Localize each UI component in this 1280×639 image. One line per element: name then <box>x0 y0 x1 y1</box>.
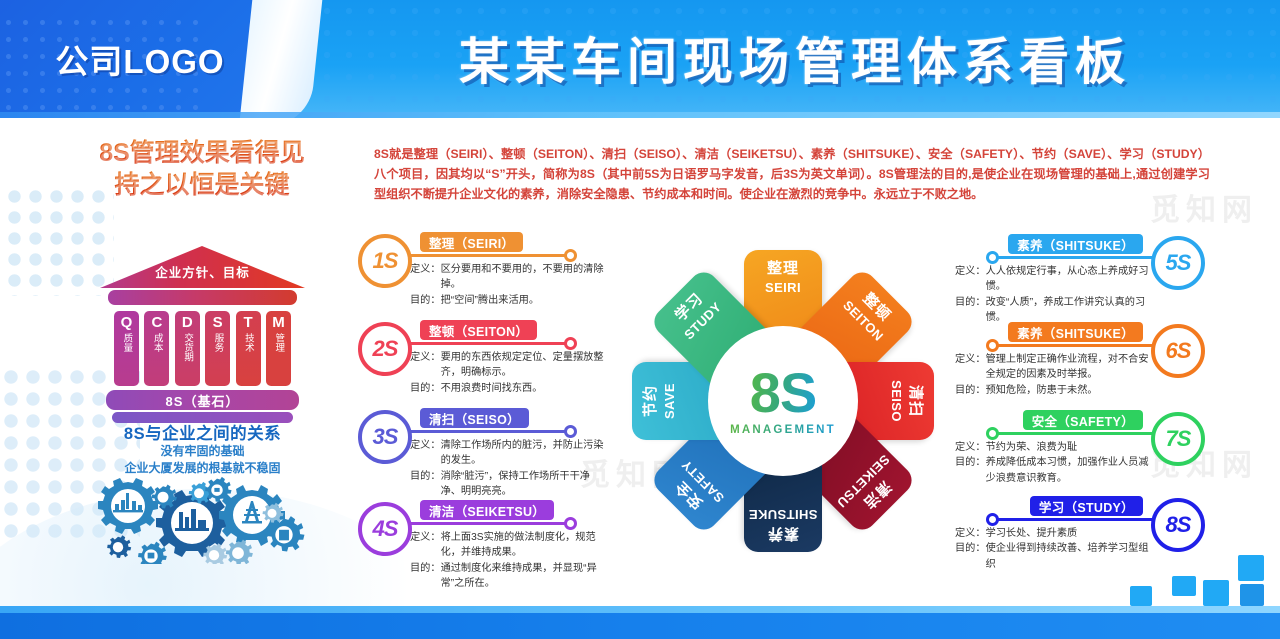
header-accent-line <box>0 112 1280 118</box>
s-card-2s[interactable]: 整顿（SEITON）2S定义：要用的东西依规定定位、定量摆放整齐，明确标示。目的… <box>358 320 608 404</box>
s-definition-key: 定义： <box>955 352 986 383</box>
pillar-label: 技术 <box>243 333 253 352</box>
s-title-chip: 清扫（SEISO） <box>420 408 529 428</box>
s-title-text: 清扫（SEISO） <box>429 409 520 428</box>
s-card-body: 定义：要用的东西依规定定位、定量摆放整齐，明确标示。目的：不用浪费时间找东西。 <box>410 350 604 396</box>
s-definition-key: 定义： <box>410 438 441 469</box>
s-definition-row: 定义：管理上制定正确作业流程，对不合安全规定的因素及时举报。 <box>955 352 1151 383</box>
footer-band <box>0 613 1280 639</box>
s-definition-value: 将上面3S实施的做法制度化，规范化，并维持成果。 <box>441 530 604 561</box>
s-badge-label: 6S <box>1166 338 1191 364</box>
s-badge-label: 3S <box>373 424 398 450</box>
temple-pillar-d: D交货期 <box>175 311 200 386</box>
s-definition-row: 定义：将上面3S实施的做法制度化，规范化，并维持成果。 <box>410 530 604 561</box>
gear-cluster-illustration <box>96 474 311 564</box>
page-title: 某某车间现场管理体系看板 <box>330 18 1260 98</box>
pillar-letter: T <box>243 315 252 330</box>
s-card-3s[interactable]: 清扫（SEISO）3S定义：清除工作场所内的脏污，并防止污染的发生。目的：消除“… <box>358 408 608 492</box>
left-headline-line1: 8S管理效果看得见 <box>62 138 342 170</box>
s-title-text: 安全（SAFETY） <box>1032 411 1134 430</box>
eight-s-flower-diagram: 整理SEIRI整顿SEITON清扫SEISO清洁SEIKETSU素养SHITSU… <box>618 236 948 566</box>
s-definition-key: 定义： <box>410 350 441 381</box>
connector-knob <box>986 427 999 440</box>
relation-subtitle: 没有牢固的基础 企业大厦发展的根基就不稳固 <box>60 443 345 478</box>
decor-pixel-3 <box>1240 584 1264 606</box>
pillar-letter: C <box>151 315 162 330</box>
s-purpose-key: 目的： <box>410 469 441 500</box>
s-card-5s[interactable]: 素养（SHITSUKE）5S定义：人人依规定行事，从心态上养成好习惯。目的：改变… <box>955 234 1205 318</box>
s-card-7s[interactable]: 安全（SAFETY）7S定义：节约为荣、浪费为耻目的：养成降低成本习惯，加强作业… <box>955 410 1205 494</box>
connector-knob <box>564 249 577 262</box>
s-card-body: 定义：节约为荣、浪费为耻目的：养成降低成本习惯，加强作业人员减少浪费意识教育。 <box>955 440 1151 486</box>
petal-label-en: SAVE <box>662 383 678 419</box>
connector-line <box>995 344 1163 347</box>
connector-line <box>995 518 1163 521</box>
s-title-chip: 学习（STUDY） <box>1030 496 1143 516</box>
s-purpose-row: 目的：使企业得到持续改善、培养学习型组织 <box>955 541 1151 572</box>
s-purpose-key: 目的： <box>955 455 986 486</box>
connector-line <box>400 254 568 257</box>
s-purpose-row: 目的：养成降低成本习惯，加强作业人员减少浪费意识教育。 <box>955 455 1151 486</box>
connector-line <box>400 430 568 433</box>
page-title-text: 某某车间现场管理体系看板 <box>459 22 1131 94</box>
petal-label-cn: 清扫 <box>907 385 924 417</box>
s-purpose-key: 目的： <box>410 381 441 396</box>
s-definition-key: 定义： <box>410 530 441 561</box>
connector-line <box>995 432 1163 435</box>
connector-knob <box>564 517 577 530</box>
header-divider-wedge <box>239 0 323 118</box>
pillar-letter: S <box>213 315 223 330</box>
s-definition-value: 要用的东西依规定定位、定量摆放整齐，明确标示。 <box>441 350 604 381</box>
petal-label-cn: 素养 <box>767 525 799 542</box>
s-purpose-value: 改变“人质”，养成工作讲究认真的习惯。 <box>986 295 1151 326</box>
s-title-chip: 素养（SHITSUKE） <box>1008 234 1143 254</box>
gear-icon-small-i <box>138 542 167 564</box>
s-title-text: 素养（SHITSUKE） <box>1017 235 1134 254</box>
left-headline: 8S管理效果看得见 持之以恒是关键 <box>62 138 342 201</box>
s-purpose-row: 目的：不用浪费时间找东西。 <box>410 381 604 396</box>
s-badge-7s: 7S <box>1151 412 1205 466</box>
s-badge-4s: 4S <box>358 502 412 556</box>
connector-knob <box>564 337 577 350</box>
s-purpose-row: 目的：通过制度化来维持成果，并显现“异常”之所在。 <box>410 561 604 592</box>
temple-pillars: Q质量C成本D交货期S服务T技术M管理 <box>114 311 291 386</box>
pillar-letter: M <box>272 315 285 330</box>
s-badge-label: 4S <box>373 516 398 542</box>
company-logo: 公司LOGO <box>32 30 248 88</box>
flower-center-subtitle: MANAGEMENT <box>730 424 836 436</box>
s-badge-label: 2S <box>373 336 398 362</box>
connector-knob <box>564 425 577 438</box>
flower-center-hub: 8S MANAGEMENT <box>708 326 858 476</box>
temple-pillar-c: C成本 <box>144 311 169 386</box>
s-purpose-key: 目的： <box>955 541 986 572</box>
s-definition-value: 学习长处、提升素质 <box>986 526 1078 541</box>
relation-title: 8S与企业之间的关系 <box>60 420 345 444</box>
s-badge-8s: 8S <box>1151 498 1205 552</box>
s-badge-label: 8S <box>1166 512 1191 538</box>
connector-line <box>400 522 568 525</box>
s-definition-row: 定义：要用的东西依规定定位、定量摆放整齐，明确标示。 <box>410 350 604 381</box>
s-definition-value: 区分要用和不要用的，不要用的清除掉。 <box>441 262 604 293</box>
s-badge-6s: 6S <box>1151 324 1205 378</box>
intro-paragraph: 8S就是整理（SEIRI）、整顿（SEITON）、清扫（SEISO）、清洁（SE… <box>374 144 1210 204</box>
s-purpose-key: 目的： <box>955 383 986 398</box>
s-badge-1s: 1S <box>358 234 412 288</box>
connector-line <box>995 256 1163 259</box>
left-headline-line2: 持之以恒是关键 <box>62 170 342 202</box>
s-badge-3s: 3S <box>358 410 412 464</box>
connector-knob <box>986 339 999 352</box>
s-title-chip: 素养（SHITSUKE） <box>1008 322 1143 342</box>
temple-roof-label: 企业方针、目标 <box>100 262 305 281</box>
s-card-8s[interactable]: 学习（STUDY）8S定义：学习长处、提升素质目的：使企业得到持续改善、培养学习… <box>955 496 1205 580</box>
s-definition-row: 定义：人人依规定行事，从心态上养成好习惯。 <box>955 264 1151 295</box>
s-purpose-row: 目的：消除“脏污”，保持工作场所干干净净、明明亮亮。 <box>410 469 604 500</box>
s-card-body: 定义：区分要用和不要用的，不要用的清除掉。目的：把“空间”腾出来活用。 <box>410 262 604 308</box>
s-definition-row: 定义：学习长处、提升素质 <box>955 526 1151 541</box>
s-purpose-key: 目的： <box>410 561 441 592</box>
decor-pixel-5 <box>1130 586 1152 606</box>
decor-pixel-1 <box>1238 555 1264 581</box>
temple-pillar-q: Q质量 <box>114 311 139 386</box>
s-definition-key: 定义： <box>955 526 986 541</box>
s-card-body: 定义：清除工作场所内的脏污，并防止污染的发生。目的：消除“脏污”，保持工作场所干… <box>410 438 604 499</box>
pillar-label: 服务 <box>213 333 223 352</box>
s-card-body: 定义：学习长处、提升素质目的：使企业得到持续改善、培养学习型组织 <box>955 526 1151 572</box>
pillar-letter: D <box>182 315 193 330</box>
pillar-label: 交货期 <box>182 333 192 362</box>
temple-diagram: 企业方针、目标 Q质量C成本D交货期S服务T技术M管理 8S（基石） <box>100 246 305 418</box>
decor-pixel-2 <box>1203 580 1229 606</box>
flower-center-title: 8S <box>750 366 817 419</box>
pillar-label: 质量 <box>122 333 132 352</box>
poster-header: 公司LOGO 某某车间现场管理体系看板 <box>0 0 1280 118</box>
s-definition-key: 定义： <box>955 264 986 295</box>
s-card-body: 定义：将上面3S实施的做法制度化，规范化，并维持成果。目的：通过制度化来维持成果… <box>410 530 604 591</box>
pillar-letter: Q <box>121 315 133 330</box>
decor-pixel-4 <box>1172 576 1196 596</box>
pillar-label: 成本 <box>152 333 162 352</box>
petal-label-en: SEIRI <box>765 280 801 296</box>
s-definition-key: 定义： <box>955 440 986 455</box>
s-card-4s[interactable]: 清洁（SEIKETSU）4S定义：将上面3S实施的做法制度化，规范化，并维持成果… <box>358 500 608 584</box>
petal-label-en: SHITSUKE <box>749 507 818 523</box>
s-purpose-key: 目的： <box>410 293 441 308</box>
s-title-text: 素养（SHITSUKE） <box>1017 323 1134 342</box>
s-purpose-value: 养成降低成本习惯，加强作业人员减少浪费意识教育。 <box>986 455 1151 486</box>
relation-sub-line1: 没有牢固的基础 <box>60 443 345 460</box>
s-title-text: 清洁（SEIKETSU） <box>429 501 545 520</box>
s-definition-value: 节约为荣、浪费为耻 <box>986 440 1078 455</box>
temple-base-label: 8S（基石） <box>166 391 240 410</box>
temple-base: 8S（基石） <box>106 390 299 410</box>
gear-icon-small-h <box>107 535 131 558</box>
s-title-text: 学习（STUDY） <box>1039 497 1134 516</box>
connector-line <box>400 342 568 345</box>
s-purpose-row: 目的：把“空间”腾出来活用。 <box>410 293 604 308</box>
s-purpose-row: 目的：预知危险，防患于未然。 <box>955 383 1151 398</box>
s-purpose-key: 目的： <box>955 295 986 326</box>
s-title-chip: 整顿（SEITON） <box>420 320 537 340</box>
temple-pillar-t: T技术 <box>236 311 261 386</box>
s-purpose-row: 目的：改变“人质”，养成工作讲究认真的习惯。 <box>955 295 1151 326</box>
s-badge-label: 7S <box>1166 426 1191 452</box>
s-title-text: 整理（SEIRI） <box>429 233 514 252</box>
company-logo-text: 公司LOGO <box>55 35 224 83</box>
s-title-chip: 安全（SAFETY） <box>1023 410 1143 430</box>
s-card-body: 定义：人人依规定行事，从心态上养成好习惯。目的：改变“人质”，养成工作讲究认真的… <box>955 264 1151 325</box>
gear-icon-large-left <box>98 478 158 534</box>
s-card-body: 定义：管理上制定正确作业流程，对不合安全规定的因素及时举报。目的：预知危险，防患… <box>955 352 1151 398</box>
s-purpose-value: 通过制度化来维持成果，并显现“异常”之所在。 <box>441 561 604 592</box>
footer-accent-line <box>0 606 1280 613</box>
petal-label-cn: 整理 <box>767 261 799 278</box>
s-definition-value: 人人依规定行事，从心态上养成好习惯。 <box>986 264 1151 295</box>
s-definition-row: 定义：清除工作场所内的脏污，并防止污染的发生。 <box>410 438 604 469</box>
pillar-label: 管理 <box>274 333 284 352</box>
s-definition-value: 管理上制定正确作业流程，对不合安全规定的因素及时举报。 <box>986 352 1151 383</box>
temple-pillar-s: S服务 <box>205 311 230 386</box>
s-definition-row: 定义：节约为荣、浪费为耻 <box>955 440 1151 455</box>
petal-label-en: SEISO <box>889 380 905 422</box>
connector-knob <box>986 513 999 526</box>
s-definition-row: 定义：区分要用和不要用的，不要用的清除掉。 <box>410 262 604 293</box>
temple-capital <box>108 290 297 305</box>
s-title-chip: 整理（SEIRI） <box>420 232 523 252</box>
s-badge-5s: 5S <box>1151 236 1205 290</box>
gear-icon-small-f <box>226 540 253 564</box>
s-card-6s[interactable]: 素养（SHITSUKE）6S定义：管理上制定正确作业流程，对不合安全规定的因素及… <box>955 322 1205 406</box>
s-badge-label: 5S <box>1166 250 1191 276</box>
s-definition-key: 定义： <box>410 262 441 293</box>
connector-knob <box>986 251 999 264</box>
s-purpose-value: 使企业得到持续改善、培养学习型组织 <box>986 541 1151 572</box>
s-purpose-value: 不用浪费时间找东西。 <box>441 381 543 396</box>
poster-canvas: 公司LOGO 某某车间现场管理体系看板 觅知网 觅知网 觅知网 8S管理效果看得… <box>0 0 1280 639</box>
s-definition-value: 清除工作场所内的脏污，并防止污染的发生。 <box>441 438 604 469</box>
s-purpose-value: 消除“脏污”，保持工作场所干干净净、明明亮亮。 <box>441 469 604 500</box>
s-card-1s[interactable]: 整理（SEIRI）1S定义：区分要用和不要用的，不要用的清除掉。目的：把“空间”… <box>358 232 608 316</box>
s-badge-2s: 2S <box>358 322 412 376</box>
temple-pillar-m: M管理 <box>266 311 291 386</box>
s-badge-label: 1S <box>373 248 398 274</box>
s-title-text: 整顿（SEITON） <box>429 321 528 340</box>
s-purpose-value: 把“空间”腾出来活用。 <box>441 293 539 308</box>
decor-dots-upper-left <box>4 186 114 296</box>
s-title-chip: 清洁（SEIKETSU） <box>420 500 554 520</box>
s-purpose-value: 预知危险，防患于未然。 <box>986 383 1098 398</box>
petal-label-cn: 节约 <box>643 385 660 417</box>
